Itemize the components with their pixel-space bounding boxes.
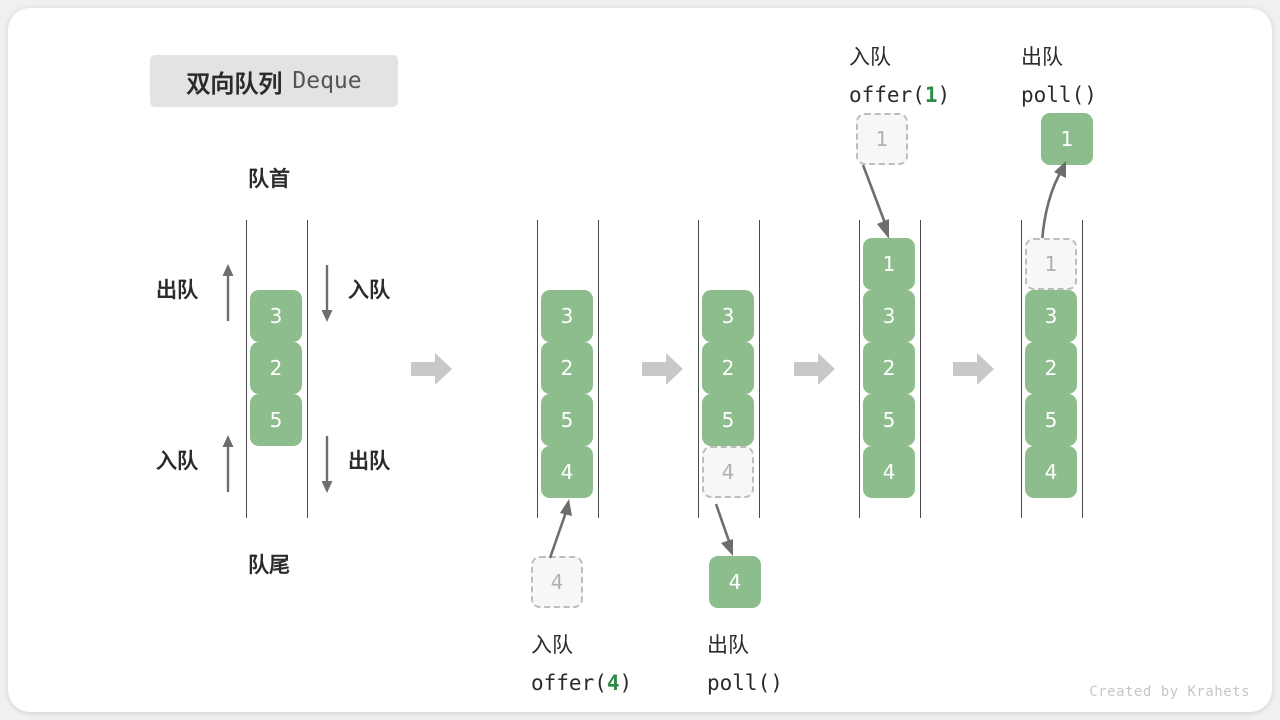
deque-item: 3 xyxy=(702,290,754,342)
panel2-caption-code: offer(4) xyxy=(531,664,632,702)
deque-item: 5 xyxy=(863,394,915,446)
panel3-caption-cn: 出队 xyxy=(707,626,783,664)
deque-item: 5 xyxy=(702,394,754,446)
flow-arrow-icon xyxy=(642,352,684,386)
panel3-caption-code: poll() xyxy=(707,664,783,702)
flow-arrow-icon xyxy=(953,352,995,386)
deque-item: 3 xyxy=(250,290,302,342)
title-cn: 双向队列 xyxy=(186,64,282,99)
panel2-code-prefix: offer( xyxy=(531,671,607,695)
pending-enqueue-value: 1 xyxy=(856,113,908,165)
deque-item-new: 1 xyxy=(863,238,915,290)
panel3-rail-left xyxy=(698,220,699,518)
deque-item-removed: 1 xyxy=(1025,238,1077,290)
deque-item: 2 xyxy=(250,342,302,394)
arrow-up-dequeue-head-icon xyxy=(218,263,238,323)
panel4-rail-right xyxy=(920,220,921,518)
panel5-header-code: poll() xyxy=(1021,76,1097,114)
footer-credit: Created by Krahets xyxy=(1089,684,1250,700)
panel5-header-cn: 出队 xyxy=(1021,38,1097,76)
panel3-rail-right xyxy=(759,220,760,518)
dequeued-value: 4 xyxy=(709,556,761,608)
panel4-header-code: offer(1) xyxy=(849,76,950,114)
deque-item: 2 xyxy=(541,342,593,394)
arrow-enqueue-tail-icon xyxy=(544,496,578,560)
deque-item-new: 4 xyxy=(541,446,593,498)
panel2-rail-left xyxy=(537,220,538,518)
title-en: Deque xyxy=(292,68,361,94)
deque-item: 3 xyxy=(863,290,915,342)
panel5-rail-left xyxy=(1021,220,1022,518)
dequeued-value: 1 xyxy=(1041,113,1093,165)
deque-item: 2 xyxy=(1025,342,1077,394)
panel4-rail-left xyxy=(859,220,860,518)
panel4-code-arg: 1 xyxy=(925,83,938,107)
panel2-caption-cn: 入队 xyxy=(531,626,632,664)
panel1-label-enqueue-tail: 入队 xyxy=(156,445,198,475)
flow-arrow-icon xyxy=(411,352,453,386)
panel4-header-cn: 入队 xyxy=(849,38,950,76)
arrow-down-dequeue-tail-icon xyxy=(317,434,337,494)
label-head: 队首 xyxy=(248,163,290,193)
panel2-code-arg: 4 xyxy=(607,671,620,695)
panel2-rail-right xyxy=(598,220,599,518)
arrow-enqueue-head-icon xyxy=(859,163,893,241)
deque-item: 4 xyxy=(863,446,915,498)
panel5-code-suffix: ) xyxy=(1084,83,1097,107)
diagram-card: 双向队列 Deque 队首 队尾 3 2 5 出队 入队 入队 出队 3 2 5… xyxy=(8,8,1272,712)
arrow-down-enqueue-head-icon xyxy=(317,263,337,323)
panel5-code-prefix: poll( xyxy=(1021,83,1084,107)
label-tail: 队尾 xyxy=(248,549,290,579)
deque-item: 3 xyxy=(1025,290,1077,342)
deque-item: 3 xyxy=(541,290,593,342)
panel3-code-prefix: poll( xyxy=(707,671,770,695)
panel5-header: 出队 poll() xyxy=(1021,38,1097,114)
panel4-code-suffix: ) xyxy=(938,83,951,107)
panel4-header: 入队 offer(1) xyxy=(849,38,950,114)
deque-item: 5 xyxy=(1025,394,1077,446)
panel1-rail-left xyxy=(246,220,247,518)
panel3-caption: 出队 poll() xyxy=(707,626,783,702)
flow-arrow-icon xyxy=(794,352,836,386)
deque-item: 5 xyxy=(250,394,302,446)
arrow-up-enqueue-tail-icon xyxy=(218,434,238,494)
deque-item: 5 xyxy=(541,394,593,446)
panel1-label-enqueue-head: 入队 xyxy=(348,274,390,304)
deque-item-removed: 4 xyxy=(702,446,754,498)
arrow-dequeue-head-icon xyxy=(1034,160,1074,244)
panel5-rail-right xyxy=(1082,220,1083,518)
panel1-rail-right xyxy=(307,220,308,518)
deque-item: 2 xyxy=(702,342,754,394)
panel4-code-prefix: offer( xyxy=(849,83,925,107)
pending-enqueue-value: 4 xyxy=(531,556,583,608)
diagram-title-badge: 双向队列 Deque xyxy=(150,55,398,107)
panel1-label-dequeue-tail: 出队 xyxy=(348,445,390,475)
arrow-dequeue-tail-icon xyxy=(710,502,744,558)
panel2-caption: 入队 offer(4) xyxy=(531,626,632,702)
panel2-code-suffix: ) xyxy=(620,671,633,695)
panel3-code-suffix: ) xyxy=(770,671,783,695)
deque-item: 4 xyxy=(1025,446,1077,498)
panel1-label-dequeue-head: 出队 xyxy=(156,274,198,304)
deque-item: 2 xyxy=(863,342,915,394)
